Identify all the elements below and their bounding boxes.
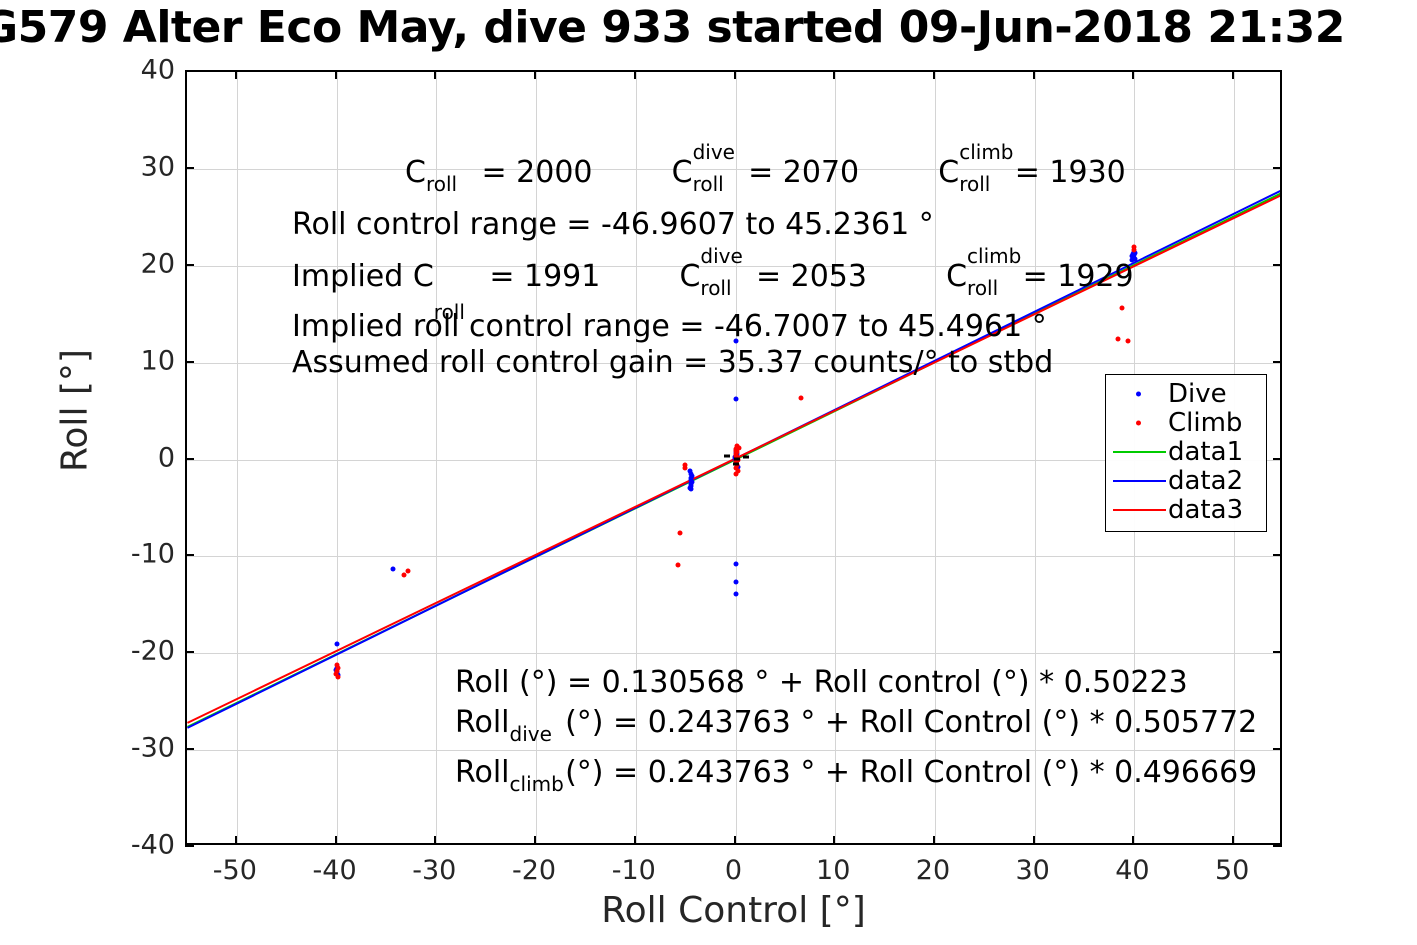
x-tick-mark [734,70,736,79]
y-tick-mark [185,748,194,750]
implied-c-roll-climb-value: = 1929 [1023,259,1134,294]
x-tick-label: 10 [816,855,850,886]
y-tick-mark [1273,70,1282,72]
y-tick-mark [1273,264,1282,266]
data-point-climb [734,446,739,451]
implied-c-roll-dive-term: Cdiveroll [679,262,700,292]
legend-marker-dot [1110,413,1168,433]
x-tick-mark [933,836,935,845]
x-tick-mark [335,836,337,845]
roll-dive-term: Rolldive [455,708,510,738]
y-tick-label: 40 [75,55,175,86]
equation-roll-climb: Rollclimb (°) = 0.243763 ° + Roll Contro… [455,758,1257,788]
legend-label: Dive [1168,381,1227,407]
legend-line-icon [1113,509,1166,511]
annotation-roll-control-range: Roll control range = -46.9607 to 45.2361… [292,210,934,240]
y-tick-mark [185,167,194,169]
y-tick-mark [1273,845,1282,847]
y-tick-mark [1273,554,1282,556]
legend-item-data1[interactable]: data1 [1110,437,1260,466]
data-point-climb [1132,245,1137,250]
equation-roll-overall: Roll (°) = 0.130568 ° + Roll control (°)… [455,668,1188,698]
x-tick-mark [335,70,337,79]
x-axis-label: Roll Control [°] [185,890,1282,931]
gridline-vertical [237,72,238,843]
gridline-horizontal [187,750,1280,751]
data-point-climb [1126,339,1131,344]
data-point-dive [334,641,339,646]
data-point-marker [724,455,730,458]
x-tick-label: 0 [725,855,742,886]
y-tick-mark [1273,361,1282,363]
y-tick-label: -30 [75,733,175,764]
annotation-implied-c-roll-row: Implied Croll = 1991 Cdiveroll = 2053 Cc… [292,262,1134,292]
implied-c-roll-prefix: Implied C [292,259,434,294]
y-tick-mark [185,651,194,653]
x-tick-mark [434,836,436,845]
x-tick-mark [933,70,935,79]
data-point-climb [799,395,804,400]
data-point-climb [733,472,738,477]
x-tick-label: -10 [612,855,656,886]
implied-c-roll-climb-term: Cclimbroll [946,262,967,292]
data-point-climb [677,531,682,536]
data-point-climb [1120,306,1125,311]
data-point-dive [1130,254,1135,259]
legend-marker-line [1110,471,1168,491]
x-tick-mark [1232,70,1234,79]
y-axis-label: Roll [°] [55,161,96,661]
legend-item-dive[interactable]: Dive [1110,379,1260,408]
x-tick-label: 40 [1115,855,1149,886]
annotation-assumed-gain: Assumed roll control gain = 35.37 counts… [292,348,1053,378]
x-tick-mark [634,70,636,79]
legend-dot-icon [1136,420,1141,425]
x-tick-mark [534,836,536,845]
y-tick-mark [185,845,194,847]
x-tick-mark [534,70,536,79]
x-tick-mark [235,70,237,79]
y-tick-mark [1273,651,1282,653]
data-point-climb [675,563,680,568]
x-tick-label: 20 [916,855,950,886]
legend-item-data2[interactable]: data2 [1110,466,1260,495]
x-tick-label: -40 [313,855,357,886]
gridline-horizontal [187,653,1280,654]
gridline-vertical [337,72,338,843]
data-point-marker [743,455,749,458]
y-tick-mark [185,554,194,556]
c-roll-value: = 2000 [482,155,593,190]
x-tick-mark [1132,70,1134,79]
data-point-climb [1116,337,1121,342]
x-tick-mark [1232,836,1234,845]
x-tick-mark [434,70,436,79]
legend[interactable]: DiveClimbdata1data2data3 [1105,374,1267,532]
y-tick-mark [1273,167,1282,169]
legend-label: data3 [1168,497,1243,523]
data-point-dive [734,579,739,584]
annotation-c-roll-row: Croll = 2000 Cdiveroll = 2070 Cclimbroll… [405,158,1126,188]
legend-label: Climb [1168,410,1242,436]
x-tick-label: -20 [512,855,556,886]
x-tick-label: -30 [412,855,456,886]
x-tick-mark [833,836,835,845]
x-tick-mark [235,836,237,845]
c-roll-dive-value: = 2070 [748,155,859,190]
legend-label: data1 [1168,439,1243,465]
y-tick-mark [185,361,194,363]
figure-root: G579 Alter Eco May, dive 933 started 09-… [0,0,1417,945]
data-point-dive [391,566,396,571]
y-tick-mark [1273,458,1282,460]
data-point-marker [733,462,739,465]
x-tick-mark [734,836,736,845]
y-tick-mark [185,70,194,72]
data-point-dive [734,592,739,597]
x-tick-label: 30 [1015,855,1049,886]
annotation-implied-roll-control-range: Implied roll control range = -46.7007 to… [292,312,1047,342]
c-roll-climb-term: Cclimbroll [938,158,959,188]
legend-marker-dot [1110,384,1168,404]
x-tick-mark [1033,70,1035,79]
implied-c-roll-value: = 1991 [489,259,600,294]
roll-climb-expression: (°) = 0.243763 ° + Roll Control (°) * 0.… [565,755,1257,790]
x-tick-label: 50 [1215,855,1249,886]
data-point-climb [682,466,687,471]
c-roll-term: Croll [405,158,426,188]
c-roll-climb-value: = 1930 [1015,155,1126,190]
y-tick-mark [185,458,194,460]
data-point-dive [734,397,739,402]
data-point-dive [687,485,692,490]
legend-line-icon [1113,451,1166,453]
x-tick-mark [1132,836,1134,845]
data-point-climb [335,674,340,679]
implied-c-roll-dive-value: = 2053 [756,259,867,294]
y-tick-mark [185,264,194,266]
page-title: G579 Alter Eco May, dive 933 started 09-… [0,2,1417,54]
legend-marker-line [1110,442,1168,462]
x-tick-label: -50 [213,855,257,886]
roll-dive-expression: (°) = 0.243763 ° + Roll Control (°) * 0.… [565,705,1257,740]
legend-item-climb[interactable]: Climb [1110,408,1260,437]
legend-marker-line [1110,500,1168,520]
data-point-marker [734,457,740,460]
equation-roll-dive: Rolldive (°) = 0.243763 ° + Roll Control… [455,708,1257,738]
x-tick-mark [833,70,835,79]
x-tick-mark [634,836,636,845]
roll-climb-term: Rollclimb [455,758,510,788]
data-point-climb [406,568,411,573]
legend-item-data3[interactable]: data3 [1110,495,1260,524]
x-tick-mark [1033,836,1035,845]
legend-label: data2 [1168,468,1243,494]
y-tick-mark [1273,748,1282,750]
legend-line-icon [1113,480,1166,482]
data-point-dive [734,562,739,567]
gridline-horizontal [187,556,1280,557]
data-point-climb [334,662,339,667]
c-roll-dive-term: Cdiveroll [672,158,693,188]
legend-dot-icon [1136,391,1141,396]
y-tick-label: -40 [75,830,175,861]
